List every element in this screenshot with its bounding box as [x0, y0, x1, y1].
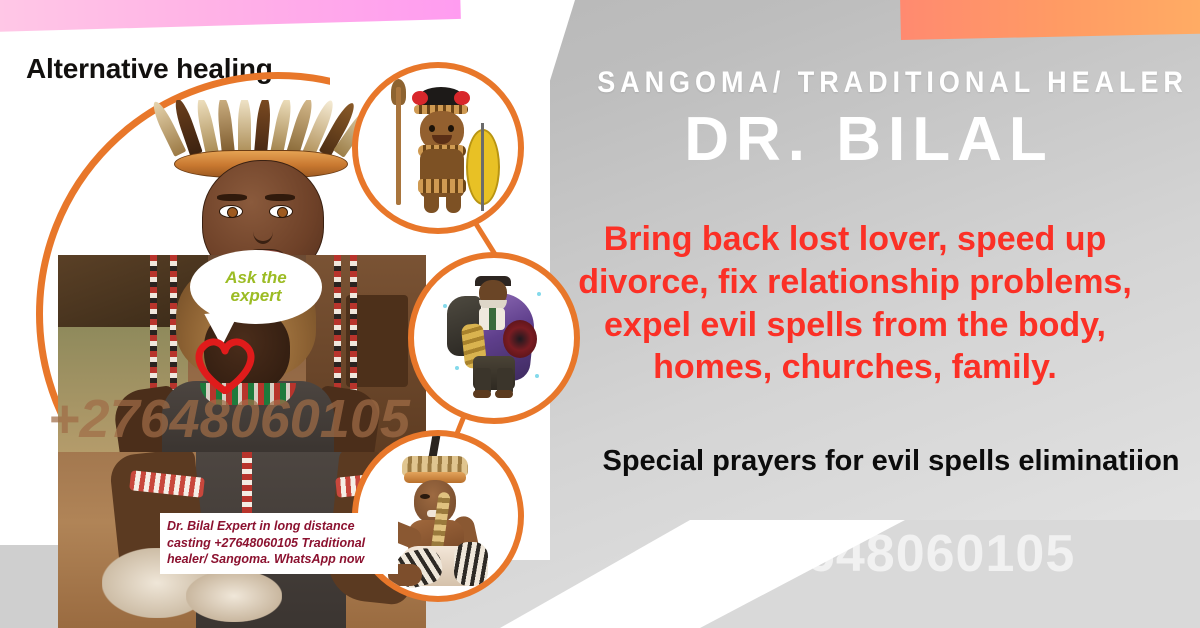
doctor-name-title: DR. BILAL: [567, 104, 1171, 175]
cloaked-healer-icon: [439, 274, 549, 402]
photo2-bones-right: [186, 570, 282, 622]
special-prayers-subheading: Special prayers for evil spells eliminat…: [600, 442, 1182, 480]
healer-shoe-left: [473, 390, 491, 398]
eyebrow-right: [265, 194, 295, 201]
healer-shield: [503, 320, 537, 358]
red-heart-icon: [192, 334, 258, 394]
circle-zulu-warrior: [352, 62, 524, 234]
nose: [253, 219, 273, 244]
speech-bubble: Ask the expert: [190, 250, 322, 324]
spear-shaft: [396, 87, 401, 205]
speech-bubble-text: Ask the expert: [206, 269, 306, 306]
warrior-eye-left: [429, 125, 435, 132]
phone-number-large: +27648060105: [600, 524, 1190, 584]
eye-left: [219, 205, 243, 218]
eye-right: [269, 205, 293, 218]
warrior-leg-left: [424, 193, 439, 213]
zulu-shield-icon: [466, 129, 500, 205]
sparkle-1: [443, 304, 447, 308]
dancer-fur-right: [454, 542, 488, 586]
orange-accent-bar: [900, 0, 1200, 40]
zulu-warrior-icon: [378, 83, 498, 213]
warrior-smile: [432, 135, 452, 144]
watermark-phone-number: +27648060105: [48, 388, 410, 450]
dancer-eye-left: [420, 494, 430, 499]
healer-shoe-right: [495, 390, 513, 398]
sparkle-4: [535, 374, 539, 378]
healer-tie: [489, 308, 496, 330]
kicker-sangoma-traditional-healer: SANGOMA/ TRADITIONAL HEALER: [597, 66, 1141, 100]
services-body-text: Bring back lost lover, speed up divorce,…: [540, 218, 1170, 389]
poster-canvas: Alternative healing: [0, 0, 1200, 628]
warrior-skirt: [418, 179, 466, 193]
sparkle-3: [455, 366, 459, 370]
warrior-leg-right: [446, 193, 461, 213]
photo-caption: Dr. Bilal Expert in long distance castin…: [160, 513, 398, 574]
eyebrow-left: [217, 194, 247, 201]
warrior-eye-right: [448, 125, 454, 132]
